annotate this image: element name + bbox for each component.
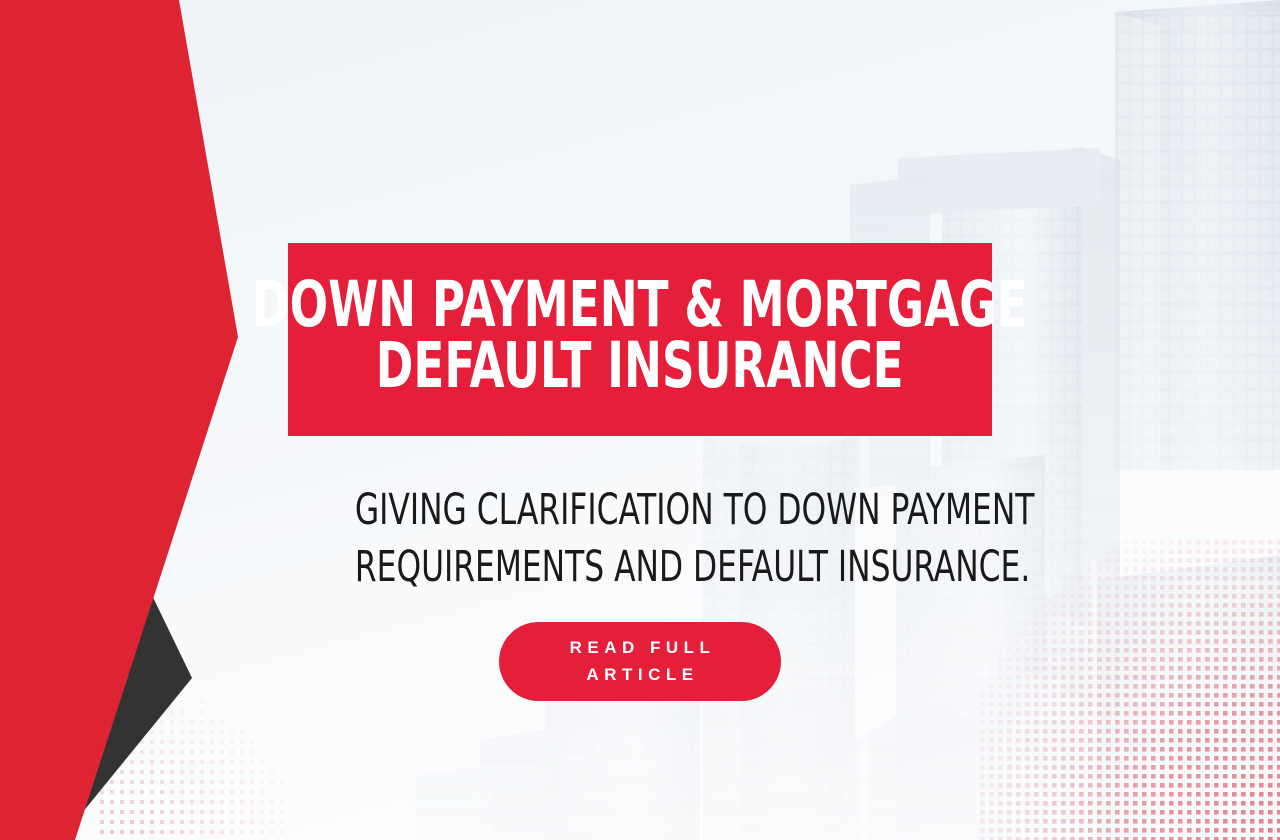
chevron-decoration-group bbox=[0, 0, 300, 840]
subtitle: GIVING CLARIFICATION TO DOWN PAYMENT REQ… bbox=[355, 482, 925, 596]
subtitle-line-2: REQUIREMENTS AND DEFAULT INSURANCE. bbox=[355, 539, 925, 596]
promo-banner-canvas: DOWN PAYMENT & MORTGAGE DEFAULT INSURANC… bbox=[0, 0, 1280, 840]
cta-label: READ FULL ARTICLE bbox=[570, 635, 716, 688]
title-banner: DOWN PAYMENT & MORTGAGE DEFAULT INSURANC… bbox=[288, 243, 992, 436]
cta-label-line-1: READ FULL bbox=[570, 635, 716, 661]
cta-label-line-2: ARTICLE bbox=[570, 662, 716, 688]
subtitle-line-1: GIVING CLARIFICATION TO DOWN PAYMENT bbox=[355, 485, 1035, 535]
title-line-2: DEFAULT INSURANCE bbox=[252, 336, 1028, 396]
read-full-article-button[interactable]: READ FULL ARTICLE bbox=[499, 622, 781, 701]
page-title: DOWN PAYMENT & MORTGAGE DEFAULT INSURANC… bbox=[252, 275, 1028, 396]
